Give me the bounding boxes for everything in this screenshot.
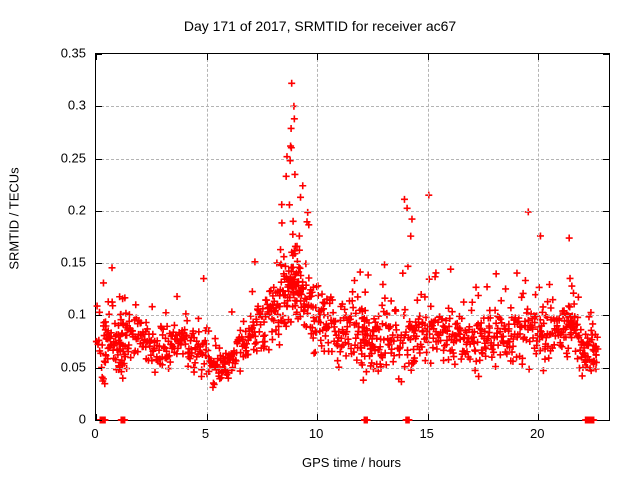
data-point [249, 288, 256, 295]
data-point [526, 338, 533, 345]
data-point [524, 306, 531, 313]
data-point [132, 301, 139, 308]
data-point [195, 328, 202, 335]
page-title: Day 171 of 2017, SRMTID for receiver ac6… [0, 18, 640, 34]
y-axis-tick-label: 0.35 [61, 46, 86, 61]
data-point [143, 319, 150, 326]
data-point [473, 284, 480, 291]
data-point [297, 194, 304, 201]
data-point [574, 355, 581, 362]
data-point [404, 347, 411, 354]
y-axis-tick [603, 263, 609, 264]
data-point [314, 282, 321, 289]
data-point [212, 335, 219, 342]
scatter-points-layer [96, 54, 609, 420]
data-point [379, 281, 386, 288]
data-point [185, 363, 192, 370]
data-point [357, 269, 364, 276]
x-axis-tick [207, 54, 208, 60]
y-axis-tick [96, 368, 102, 369]
data-point [401, 363, 408, 370]
data-point [423, 314, 430, 321]
x-axis-tick [317, 414, 318, 420]
x-axis-tick [428, 414, 429, 420]
data-point [566, 235, 573, 242]
data-point [388, 297, 395, 304]
x-axis-tick-label: 10 [309, 426, 323, 441]
data-point [408, 216, 415, 223]
y-axis-tick [603, 315, 609, 316]
data-point [354, 293, 361, 300]
data-point [575, 294, 582, 301]
y-axis-tick [603, 159, 609, 160]
data-point [337, 348, 344, 355]
data-point [349, 288, 356, 295]
data-point [365, 271, 372, 278]
y-axis-tick-label: 0.05 [61, 359, 86, 374]
data-point [427, 303, 434, 310]
data-point [425, 192, 432, 199]
x-axis-label: GPS time / hours [95, 455, 608, 470]
data-point [546, 281, 553, 288]
y-axis-tick [96, 420, 102, 421]
data-point [510, 343, 517, 350]
data-point [228, 308, 235, 315]
data-point [433, 345, 440, 352]
data-point [416, 349, 423, 356]
data-point [277, 246, 284, 253]
data-point [251, 258, 258, 265]
gnuplot-figure: Day 171 of 2017, SRMTID for receiver ac6… [0, 0, 640, 480]
x-axis-tick-label: 0 [91, 426, 98, 441]
data-point [319, 291, 326, 298]
data-point [568, 283, 575, 290]
data-point [541, 356, 548, 363]
data-point [383, 311, 390, 318]
data-point [297, 265, 304, 272]
data-point [149, 303, 156, 310]
data-point [532, 291, 539, 298]
data-point [525, 208, 532, 215]
data-point [392, 308, 399, 315]
data-point [520, 290, 527, 297]
data-point [190, 364, 197, 371]
data-point [149, 331, 156, 338]
data-point [152, 369, 159, 376]
data-point [171, 322, 178, 329]
data-point [393, 326, 400, 333]
data-point [125, 341, 132, 348]
data-point [109, 264, 116, 271]
x-axis-tick [538, 54, 539, 60]
x-axis-tick [96, 54, 97, 60]
data-point [299, 182, 306, 189]
data-point [360, 377, 367, 384]
data-point [302, 260, 309, 267]
data-point [401, 196, 408, 203]
y-axis-tick [603, 106, 609, 107]
data-point [522, 277, 529, 284]
data-point [278, 219, 285, 226]
data-point [184, 317, 191, 324]
data-point [305, 274, 312, 281]
data-point [174, 293, 181, 300]
data-point [106, 311, 113, 318]
data-point [182, 310, 189, 317]
data-point [200, 275, 207, 282]
data-point [589, 320, 596, 327]
data-point [291, 171, 298, 178]
data-point [423, 349, 430, 356]
data-point [547, 305, 554, 312]
data-point [237, 368, 244, 375]
x-axis-tick-labels: 05101520 [95, 426, 608, 446]
data-point [474, 339, 481, 346]
data-point [290, 103, 297, 110]
data-point [401, 306, 408, 313]
y-axis-tick-label: 0.25 [61, 150, 86, 165]
y-axis-tick [603, 211, 609, 212]
x-axis-tick-label: 20 [530, 426, 544, 441]
data-point [253, 339, 260, 346]
data-point [294, 258, 301, 265]
data-point [94, 303, 101, 310]
data-point [564, 353, 571, 360]
x-axis-tick [538, 414, 539, 420]
data-point [289, 231, 296, 238]
y-axis-tick-label: 0.15 [61, 255, 86, 270]
data-point [588, 327, 595, 334]
data-point [472, 348, 479, 355]
data-point [109, 302, 116, 309]
data-point [334, 357, 341, 364]
data-point [476, 357, 483, 364]
data-point [269, 336, 276, 343]
data-point [260, 333, 267, 340]
data-point [283, 173, 290, 180]
data-point [363, 368, 370, 375]
data-point [351, 277, 358, 284]
data-point [540, 367, 547, 374]
data-point [545, 355, 552, 362]
data-point [381, 261, 388, 268]
data-point [256, 328, 263, 335]
y-axis-tick [96, 263, 102, 264]
data-point [286, 201, 293, 208]
x-axis-tick [428, 54, 429, 60]
data-point [579, 372, 586, 379]
data-point [288, 80, 295, 87]
data-point [290, 218, 297, 225]
plot-area [95, 53, 610, 421]
data-point [404, 205, 411, 212]
data-point [414, 297, 421, 304]
data-point [325, 339, 332, 346]
y-axis-tick [603, 54, 609, 55]
data-point [312, 349, 319, 356]
data-point [468, 307, 475, 314]
data-point [475, 373, 482, 380]
data-point [269, 328, 276, 335]
data-point [473, 358, 480, 365]
data-point [192, 359, 199, 366]
x-axis-tick [317, 54, 318, 60]
data-point [449, 308, 456, 315]
data-point [407, 233, 414, 240]
data-point [126, 311, 133, 318]
data-point [429, 344, 436, 351]
x-axis-tick-label: 5 [202, 426, 209, 441]
data-point [492, 363, 499, 370]
y-axis-tick [603, 420, 609, 421]
y-axis-tick [96, 315, 102, 316]
y-axis-tick-label: 0.1 [68, 307, 86, 322]
y-axis-tick [603, 368, 609, 369]
data-point [261, 332, 268, 339]
data-point [165, 365, 172, 372]
data-point [447, 266, 454, 273]
data-point [328, 348, 335, 355]
data-point [540, 303, 547, 310]
x-axis-tick [96, 414, 97, 420]
data-point [451, 361, 458, 368]
data-point [288, 125, 295, 132]
data-point [195, 315, 202, 322]
data-point [379, 302, 386, 309]
data-point [493, 270, 500, 277]
data-point [291, 115, 298, 122]
data-point [335, 364, 342, 371]
data-point [119, 375, 126, 382]
y-axis-tick-labels: 00.050.10.150.20.250.30.35 [0, 53, 86, 419]
data-point [482, 345, 489, 352]
data-point [278, 201, 285, 208]
data-point [100, 279, 107, 286]
y-axis-tick-label: 0 [79, 412, 86, 427]
data-point [567, 275, 574, 282]
data-point [276, 341, 283, 348]
data-point [252, 340, 259, 347]
y-axis-tick [96, 159, 102, 160]
data-point [296, 233, 303, 240]
x-axis-tick-label: 15 [419, 426, 433, 441]
data-point [240, 318, 247, 325]
data-point [396, 351, 403, 358]
y-axis-tick-label: 0.3 [68, 98, 86, 113]
data-point [237, 327, 244, 334]
data-point [572, 348, 579, 355]
data-point [162, 309, 169, 316]
data-point [498, 297, 505, 304]
data-point [400, 312, 407, 319]
data-point [399, 270, 406, 277]
data-point [458, 356, 465, 363]
y-axis-tick [96, 211, 102, 212]
data-point [362, 289, 369, 296]
data-point [445, 305, 452, 312]
data-point [460, 299, 467, 306]
y-axis-tick [96, 106, 102, 107]
data-point [408, 367, 415, 374]
data-point [304, 209, 311, 216]
data-point [536, 284, 543, 291]
data-point [390, 358, 397, 365]
data-point [182, 341, 189, 348]
data-point [311, 350, 318, 357]
data-point [570, 290, 577, 297]
data-point [280, 253, 287, 260]
data-point [518, 294, 525, 301]
data-point [484, 283, 491, 290]
data-point [513, 270, 520, 277]
data-point [317, 337, 324, 344]
data-point [404, 263, 411, 270]
y-axis-tick-label: 0.2 [68, 202, 86, 217]
data-point [315, 292, 322, 299]
data-point [475, 292, 482, 299]
data-point [507, 304, 514, 311]
x-axis-tick [207, 414, 208, 420]
data-point [381, 295, 388, 302]
data-point [526, 366, 533, 373]
data-point [432, 269, 439, 276]
data-point [472, 367, 479, 374]
data-point [502, 285, 509, 292]
data-point [537, 232, 544, 239]
data-point [469, 299, 476, 306]
data-point [523, 309, 530, 316]
